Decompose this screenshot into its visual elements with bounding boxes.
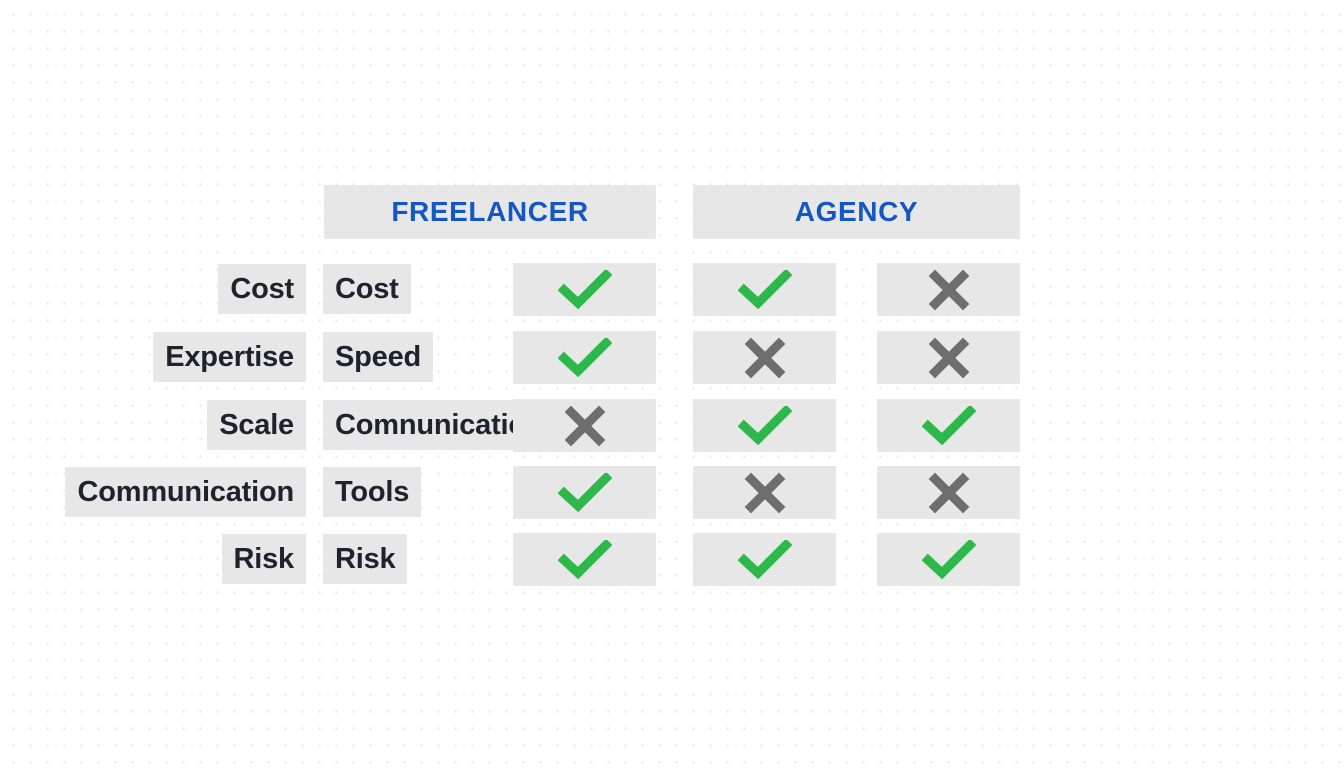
mark-cell-r2c1 <box>513 331 656 384</box>
row-label-b-4-text: Tools <box>335 476 409 509</box>
row-label-a-1: Cost <box>218 264 306 314</box>
check-icon <box>738 270 792 310</box>
check-icon <box>558 540 612 580</box>
mark-cell-r5c2 <box>693 533 836 586</box>
row-label-a-4-text: Communication <box>77 476 294 509</box>
row-label-a-1-text: Cost <box>230 273 294 306</box>
check-icon <box>558 338 612 378</box>
row-label-a-3-text: Scale <box>219 409 294 442</box>
mark-cell-r1c3 <box>877 263 1020 316</box>
mark-cell-r5c3 <box>877 533 1020 586</box>
cross-icon <box>928 337 970 379</box>
comparison-board: FREELANCER AGENCY Cost Cost Expertise Sp… <box>0 0 1344 768</box>
row-label-b-1: Cost <box>323 264 411 314</box>
cross-icon <box>744 472 786 514</box>
row-label-b-5-text: Risk <box>335 543 395 576</box>
mark-cell-r3c1 <box>513 399 656 452</box>
mark-cell-r4c3 <box>877 466 1020 519</box>
row-label-a-2-text: Expertise <box>165 341 294 374</box>
mark-cell-r4c2 <box>693 466 836 519</box>
row-label-a-4: Communication <box>65 467 306 517</box>
mark-cell-r3c2 <box>693 399 836 452</box>
check-icon <box>558 473 612 513</box>
column-header-agency: AGENCY <box>693 185 1020 239</box>
mark-cell-r2c2 <box>693 331 836 384</box>
cross-icon <box>744 337 786 379</box>
check-icon <box>922 406 976 446</box>
row-label-a-5-text: Risk <box>234 543 294 576</box>
check-icon <box>738 406 792 446</box>
mark-cell-r2c3 <box>877 331 1020 384</box>
row-label-b-2-text: Speed <box>335 341 421 374</box>
row-label-b-2: Speed <box>323 332 433 382</box>
column-header-freelancer-label: FREELANCER <box>391 196 588 228</box>
column-header-agency-label: AGENCY <box>795 196 918 228</box>
cross-icon <box>928 269 970 311</box>
row-label-b-4: Tools <box>323 467 421 517</box>
mark-cell-r3c3 <box>877 399 1020 452</box>
row-label-a-2: Expertise <box>153 332 306 382</box>
check-icon <box>738 540 792 580</box>
mark-cell-r4c1 <box>513 466 656 519</box>
mark-cell-r5c1 <box>513 533 656 586</box>
row-label-a-3: Scale <box>207 400 306 450</box>
mark-cell-r1c1 <box>513 263 656 316</box>
check-icon <box>558 270 612 310</box>
row-label-a-5: Risk <box>222 534 306 584</box>
check-icon <box>922 540 976 580</box>
mark-cell-r1c2 <box>693 263 836 316</box>
row-label-b-5: Risk <box>323 534 407 584</box>
cross-icon <box>928 472 970 514</box>
row-label-b-1-text: Cost <box>335 273 399 306</box>
column-header-freelancer: FREELANCER <box>324 185 656 239</box>
cross-icon <box>564 405 606 447</box>
